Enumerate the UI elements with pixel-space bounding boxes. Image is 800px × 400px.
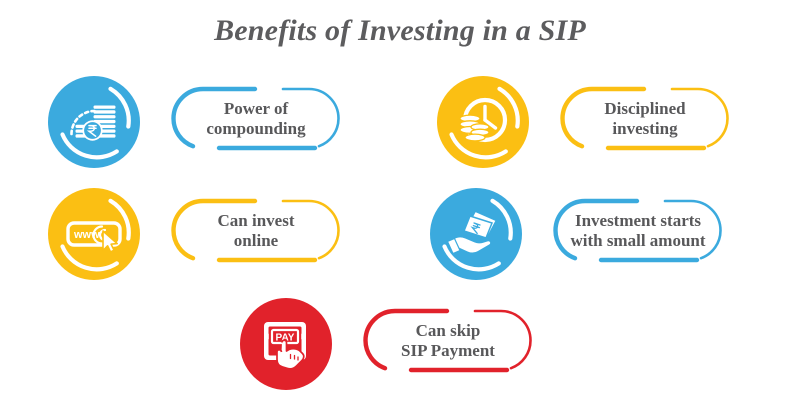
- tablet-pay-tap-icon: PAY: [240, 298, 332, 390]
- hand-holding-rupee-notes-icon: [430, 188, 522, 280]
- page-title: Benefits of Investing in a SIP: [0, 14, 800, 48]
- coins-rupee-growth-icon: [48, 76, 140, 168]
- benefit-pill: Power of compounding: [155, 85, 357, 152]
- benefit-pill: Can skip SIP Payment: [347, 307, 549, 374]
- benefit-pill: Can invest online: [155, 197, 357, 264]
- clock-coins-icon: [437, 76, 529, 168]
- benefit-pill: Investment starts with small amount: [537, 197, 739, 264]
- svg-text:www.: www.: [73, 229, 102, 241]
- browser-www-cursor-icon: www.: [48, 188, 140, 280]
- benefit-pill: Disciplined investing: [544, 85, 746, 152]
- sip-benefits-infographic: Benefits of Investing in a SIP: [0, 0, 800, 400]
